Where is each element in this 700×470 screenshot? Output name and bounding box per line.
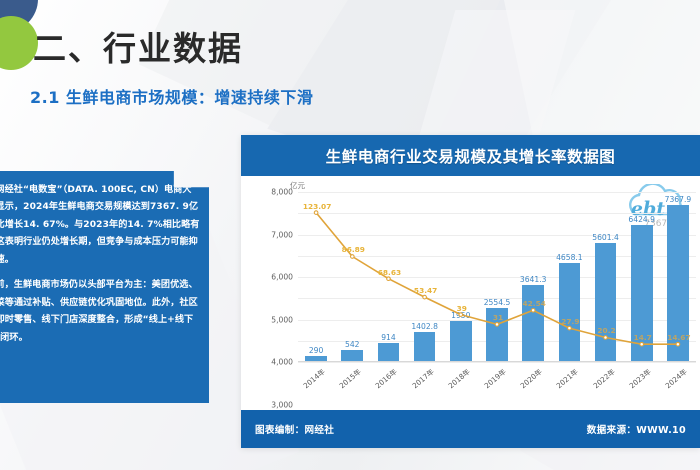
chart-title: 生鲜电商行业交易规模及其增长率数据图 (326, 145, 616, 167)
y-axis-tick-label: 8,000 (271, 188, 293, 197)
x-axis-tick-label: 2019年 (482, 367, 508, 391)
info-paragraph: 目前，生鲜电商市场仍以头部平台为主：美团优选、多多买菜等通过补贴、供应链优化巩固… (0, 277, 200, 347)
x-axis-tick-label: 2023年 (627, 367, 653, 391)
y-axis-tick-label: 7,000 (271, 230, 293, 239)
growth-rate-label: 42.54 (522, 299, 545, 308)
bar (559, 263, 581, 362)
bar (595, 243, 617, 362)
growth-rate-label: 27.9 (561, 317, 579, 326)
bar-value-label: 290 (309, 346, 324, 355)
bar-value-label: 4658.1 (556, 253, 583, 262)
x-axis-tick-label: 2014年 (302, 367, 328, 391)
info-panel-text: 据网经社“电数宝”（DATA. 100EC, CN）电商大数据库显示，2024年… (0, 182, 200, 347)
bar (378, 343, 400, 362)
bar-value-label: 3641.3 (520, 275, 547, 284)
chart-card: 生鲜电商行业交易规模及其增长率数据图 亿元 ebt 7367.9 01,0002… (241, 135, 700, 448)
gridline: 8,000 (298, 192, 696, 193)
growth-rate-label: 14.67 (667, 333, 690, 342)
bar (522, 285, 544, 362)
gridline: 7,000 (298, 213, 696, 214)
y-axis-tick-label: 5,000 (271, 315, 293, 324)
x-axis-tick-label: 2024年 (663, 367, 689, 391)
bar-value-label: 6424.9 (628, 215, 655, 224)
growth-rate-label: 14.7 (634, 333, 652, 342)
x-axis-tick-label: 2017年 (410, 367, 436, 391)
y-axis-tick-label: 4,000 (271, 358, 293, 367)
growth-rate-label: 31 (493, 313, 503, 322)
growth-rate-label: 20.2 (597, 326, 615, 335)
growth-rate-label: 86.89 (342, 245, 365, 254)
x-axis-tick-label: 2022年 (591, 367, 617, 391)
chart-footer-bar: 图表编制：网经社 数据来源：WWW.10 (241, 410, 700, 448)
bar-value-label: 2554.5 (484, 298, 511, 307)
chart-source: 数据来源：WWW.10 (587, 422, 686, 436)
bar (414, 332, 436, 362)
growth-rate-label: 68.63 (378, 268, 401, 277)
bar-value-label: 542 (345, 340, 360, 349)
info-panel: 据网经社“电数宝”（DATA. 100EC, CN）电商大数据库显示，2024年… (0, 171, 209, 403)
x-axis-line (298, 361, 696, 362)
slide-canvas: 二、行业数据 2.1 生鲜电商市场规模：增速持续下滑 据网经社“电数宝”（DAT… (0, 0, 700, 470)
x-axis-tick-label: 2016年 (374, 367, 400, 391)
page-title: 二、行业数据 (33, 22, 243, 70)
chart-title-bar: 生鲜电商行业交易规模及其增长率数据图 (241, 135, 700, 176)
growth-rate-label: 123.07 (303, 202, 332, 211)
x-axis-tick-label: 2021年 (555, 367, 581, 391)
bar (450, 321, 472, 362)
x-axis-tick-label: 2018年 (446, 367, 472, 391)
y-axis-tick-label: 3,000 (271, 400, 293, 409)
page-subtitle: 2.1 生鲜电商市场规模：增速持续下滑 (30, 84, 313, 108)
bar-value-label: 5601.4 (592, 233, 619, 242)
chart-plot: 01,0002,0003,0004,0005,0006,0007,0008,00… (298, 192, 696, 362)
y-axis-tick-label: 6,000 (271, 273, 293, 282)
gridline: 0 (298, 362, 696, 363)
bar-value-label: 914 (381, 333, 396, 342)
growth-rate-label: 53.47 (414, 286, 437, 295)
info-paragraph: 据网经社“电数宝”（DATA. 100EC, CN）电商大数据库显示，2024年… (0, 182, 200, 269)
x-axis-tick-label: 2015年 (338, 367, 364, 391)
chart-credit: 图表编制：网经社 (255, 422, 334, 436)
chart-plot-area: 亿元 ebt 7367.9 01,0002,0003,0004,0005,000… (241, 176, 700, 410)
x-axis-tick-label: 2020年 (519, 367, 545, 391)
bar-value-label: 7367.9 (665, 195, 692, 204)
growth-rate-label: 39 (457, 304, 467, 313)
bar-value-label: 1402.8 (411, 322, 438, 331)
